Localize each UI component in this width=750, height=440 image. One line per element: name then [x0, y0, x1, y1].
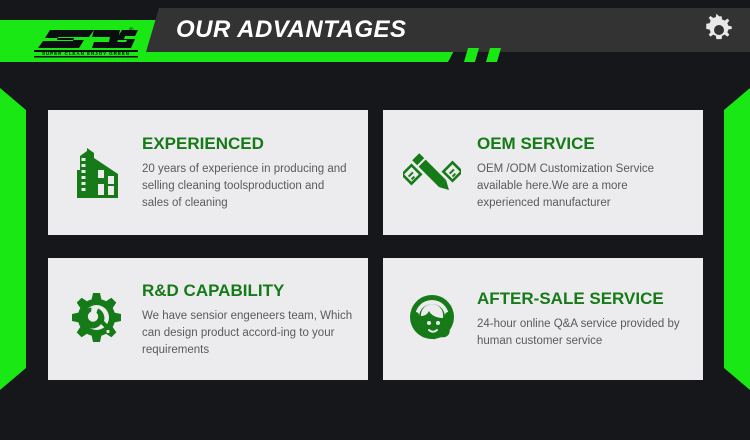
advantages-page: ® SUPER CLEAN ENJOY GREEN OUR ADVANTAGES	[0, 0, 750, 440]
header-slash-2	[486, 48, 501, 62]
headset-support-icon	[401, 288, 463, 350]
card-body: AFTER-SALE SERVICE 24-hour online Q&A se…	[477, 288, 689, 350]
brand-logo[interactable]: ® SUPER CLEAN ENJOY GREEN	[32, 24, 140, 60]
page-header: ® SUPER CLEAN ENJOY GREEN OUR ADVANTAGES	[0, 0, 750, 78]
card-title: EXPERIENCED	[142, 133, 354, 155]
gear-wrench-icon	[66, 288, 128, 350]
card-title: R&D CAPABILITY	[142, 280, 354, 302]
registered-mark: ®	[129, 27, 134, 34]
card-description: 24-hour online Q&A service provided by h…	[477, 316, 689, 350]
right-green-decoration	[724, 88, 750, 390]
card-description: OEM /ODM Customization Service available…	[477, 161, 689, 212]
card-body: R&D CAPABILITY We have sensior engeneers…	[142, 280, 354, 359]
pencil-ruler-icon	[401, 142, 463, 204]
advantage-card-rnd-capability[interactable]: R&D CAPABILITY We have sensior engeneers…	[48, 258, 368, 380]
card-description: 20 years of experience in producing and …	[142, 161, 354, 212]
left-green-decoration	[0, 88, 26, 390]
card-title: AFTER-SALE SERVICE	[477, 288, 689, 310]
page-title: OUR ADVANTAGES	[176, 15, 407, 45]
advantage-card-oem-service[interactable]: OEM SERVICE OEM /ODM Customization Servi…	[383, 110, 703, 235]
advantage-card-experienced[interactable]: EXPERIENCED 20 years of experience in pr…	[48, 110, 368, 235]
card-body: OEM SERVICE OEM /ODM Customization Servi…	[477, 133, 689, 212]
card-title: OEM SERVICE	[477, 133, 689, 155]
building-icon	[66, 142, 128, 204]
brand-tagline: SUPER CLEAN ENJOY GREEN	[34, 51, 138, 56]
card-body: EXPERIENCED 20 years of experience in pr…	[142, 133, 354, 212]
gear-icon[interactable]	[702, 13, 736, 47]
advantage-card-after-sale-service[interactable]: AFTER-SALE SERVICE 24-hour online Q&A se…	[383, 258, 703, 380]
advantages-grid: EXPERIENCED 20 years of experience in pr…	[48, 110, 703, 380]
card-description: We have sensior engeneers team, Which ca…	[142, 308, 354, 359]
header-slash-1	[464, 48, 479, 62]
